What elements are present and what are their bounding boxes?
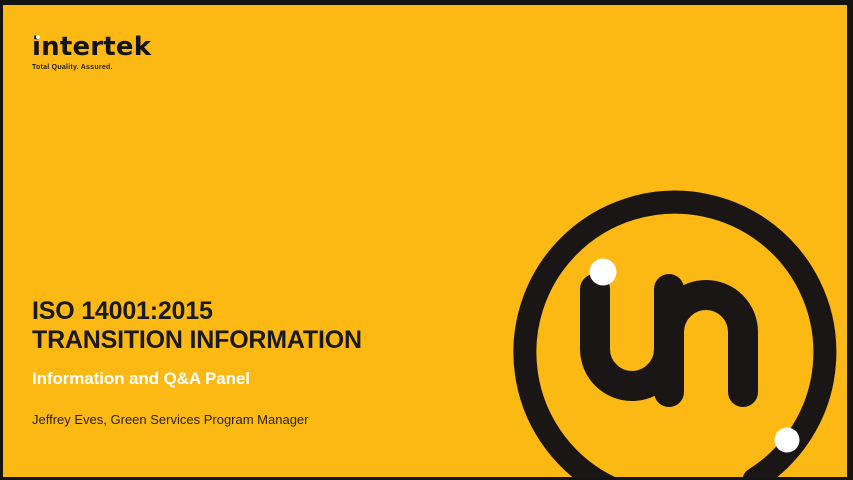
brand-letter-n [669, 295, 743, 392]
slide-title-line-2: TRANSITION INFORMATION [32, 326, 462, 355]
brand-dot-lower [775, 428, 800, 453]
slide-title-line-1: ISO 14001:2015 [32, 297, 462, 326]
slide-subtitle: Information and Q&A Panel [32, 369, 462, 389]
intertek-logo: intertek Total Quality. Assured. [32, 33, 222, 79]
logo-wordmark-text: intertek [32, 32, 151, 62]
presentation-slide: intertek Total Quality. Assured. ISO 140… [0, 0, 853, 480]
brand-dot-upper [590, 259, 617, 286]
brand-letter-u [595, 289, 669, 386]
logo-wordmark-container: intertek [32, 33, 222, 61]
logo-tagline: Total Quality. Assured. [32, 64, 222, 71]
logo-i-dot-icon [36, 35, 40, 39]
slide-canvas: intertek Total Quality. Assured. ISO 140… [3, 5, 847, 477]
slide-text-block: ISO 14001:2015 TRANSITION INFORMATION In… [32, 297, 462, 428]
intertek-brandmark [482, 177, 842, 477]
slide-presenter: Jeffrey Eves, Green Services Program Man… [32, 411, 462, 428]
brand-ring-arc [486, 177, 842, 477]
